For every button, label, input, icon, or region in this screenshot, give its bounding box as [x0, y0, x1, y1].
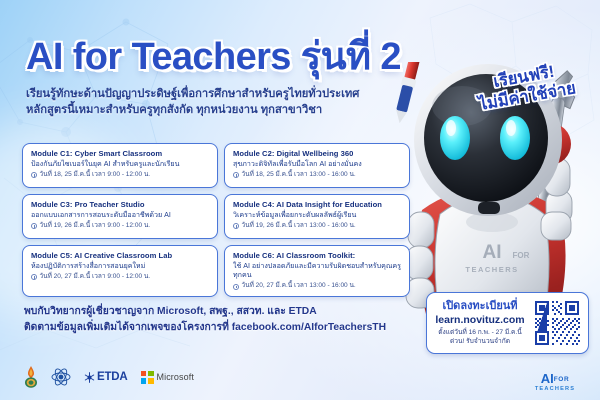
- ipst-emblem-icon: [51, 367, 71, 387]
- free-badge-line-2: ไม่มีค่าใช้จ่าย: [452, 74, 600, 120]
- registration-box[interactable]: เปิดลงทะเบียนที่ learn.novituz.com ตั้งแ…: [426, 292, 589, 354]
- module-schedule: วันที่ 19, 26 มี.ค.นี้ เวลา 9:00 - 12:00…: [31, 222, 210, 230]
- module-schedule-text: วันที่ 20, 27 มี.ค.นี้ เวลา 13:00 - 16:0…: [242, 282, 356, 290]
- brand-mark-line-1: AIFOR: [524, 372, 586, 385]
- clock-icon: [31, 223, 37, 229]
- module-description: ออกแบบเอกสารการสอนระดับมืออาชีพด้วย AI: [31, 211, 210, 220]
- qr-code-icon[interactable]: [532, 298, 582, 348]
- registration-limit-note: ด่วน! รับจำนวนจำกัด: [433, 338, 527, 347]
- ai-for-teachers-brand-mark: AIFOR TEACHERS: [524, 372, 586, 392]
- svg-text:TEACHERS: TEACHERS: [465, 265, 518, 274]
- registration-text: เปิดลงทะเบียนที่ learn.novituz.com ตั้งแ…: [433, 300, 527, 346]
- brand-mark-ai: AI: [541, 371, 554, 386]
- brand-mark-for: FOR: [554, 376, 570, 383]
- registration-url[interactable]: learn.novituz.com: [433, 314, 527, 327]
- module-card[interactable]: Module C2: Digital Wellbeing 360 สุขภาวะ…: [224, 143, 410, 188]
- module-card[interactable]: Module C3: Pro Teacher Studio ออกแบบเอกส…: [22, 194, 218, 239]
- module-schedule: วันที่ 18, 25 มี.ค.นี้ เวลา 9:00 - 12:00…: [31, 171, 210, 179]
- etda-mark-icon: [84, 372, 95, 383]
- clock-icon: [233, 172, 239, 178]
- module-title: Module C2: Digital Wellbeing 360: [233, 149, 402, 158]
- page-title: AI for Teachers รุ่นที่ 2: [26, 38, 456, 76]
- module-schedule: วันที่ 18, 25 มี.ค.นี้ เวลา 13:00 - 16:0…: [233, 171, 402, 179]
- etda-logo-text: ETDA: [97, 371, 128, 383]
- bottom-info-block: พบกับวิทยากรผู้เชี่ยวชาญจาก Microsoft, ส…: [24, 304, 386, 336]
- module-description: ใช้ AI อย่างปลอดภัยและมีความรับผิดชอบสำห…: [233, 262, 402, 280]
- module-title: Module C3: Pro Teacher Studio: [31, 200, 210, 209]
- module-card[interactable]: Module C1: Cyber Smart Classroom ป้องกัน…: [22, 143, 218, 188]
- module-schedule-text: วันที่ 18, 25 มี.ค.นี้ เวลา 9:00 - 12:00…: [40, 171, 151, 179]
- registration-heading: เปิดลงทะเบียนที่: [433, 300, 527, 313]
- title-block: AI for Teachers รุ่นที่ 2 เรียนรู้ทักษะด…: [26, 38, 456, 119]
- partner-logo-bar: ETDA Microsoft: [24, 366, 194, 388]
- svg-text:AI: AI: [483, 242, 502, 263]
- module-card[interactable]: Module C6: AI Classroom Toolkit: ใช้ AI …: [224, 245, 410, 297]
- module-description: ป้องกันภัยไซเบอร์ในยุค AI สำหรับครูและนั…: [31, 160, 210, 169]
- subtitle-line-1: เรียนรู้ทักษะด้านปัญญาประดิษฐ์เพื่อการศึ…: [26, 87, 456, 103]
- module-description: สุขภาวะดิจิทัลเพื่อรับมือโลก AI อย่างมั่…: [233, 160, 402, 169]
- microsoft-squares-icon: [141, 371, 154, 384]
- clock-icon: [31, 274, 37, 280]
- clock-icon: [31, 172, 37, 178]
- subtitle-line-2: หลักสูตรนี้เหมาะสำหรับครูทุกสังกัด ทุกหน…: [26, 103, 456, 119]
- module-card[interactable]: Module C5: AI Creative Classroom Lab ห้อ…: [22, 245, 218, 297]
- module-title: Module C5: AI Creative Classroom Lab: [31, 251, 210, 260]
- module-title: Module C1: Cyber Smart Classroom: [31, 149, 210, 158]
- module-card-grid: Module C1: Cyber Smart Classroom ป้องกัน…: [22, 143, 410, 297]
- module-schedule: วันที่ 20, 27 มี.ค.นี้ เวลา 9:00 - 12:00…: [31, 273, 210, 281]
- module-schedule: วันที่ 20, 27 มี.ค.นี้ เวลา 13:00 - 16:0…: [233, 282, 402, 290]
- module-schedule-text: วันที่ 19, 26 มี.ค.นี้ เวลา 9:00 - 12:00…: [40, 222, 151, 230]
- facebook-line[interactable]: ติดตามข้อมูลเพิ่มเติมได้จากเพจของโครงการ…: [24, 320, 386, 336]
- module-schedule-text: วันที่ 18, 25 มี.ค.นี้ เวลา 13:00 - 16:0…: [242, 171, 356, 179]
- module-schedule: วันที่ 19, 26 มี.ค.นี้ เวลา 13:00 - 16:0…: [233, 222, 402, 230]
- registration-period: ตั้งแต่วันที่ 16 ก.พ. - 27 มี.ค.นี้: [433, 329, 527, 338]
- garuda-emblem-icon: [24, 366, 38, 388]
- svg-text:FOR: FOR: [513, 251, 530, 260]
- clock-icon: [233, 223, 239, 229]
- poster-canvas: AI FOR TEACHERS AI for Teach: [0, 0, 600, 400]
- free-course-badge: เรียนฟรี! ไม่มีค่าใช้จ่าย: [448, 54, 600, 120]
- free-badge-line-1: เรียนฟรี!: [448, 54, 599, 100]
- etda-logo: ETDA: [84, 371, 128, 383]
- brand-mark-line-2: TEACHERS: [524, 386, 586, 392]
- microsoft-logo-text: Microsoft: [157, 372, 194, 382]
- clock-icon: [233, 284, 239, 290]
- speakers-line: พบกับวิทยากรผู้เชี่ยวชาญจาก Microsoft, ส…: [24, 304, 386, 320]
- module-schedule-text: วันที่ 19, 26 มี.ค.นี้ เวลา 13:00 - 16:0…: [242, 222, 356, 230]
- module-card[interactable]: Module C4: AI Data Insight for Education…: [224, 194, 410, 239]
- module-description: วิเคราะห์ข้อมูลเพื่อยกระดับผลลัพธ์ผู้เรี…: [233, 211, 402, 220]
- module-schedule-text: วันที่ 20, 27 มี.ค.นี้ เวลา 9:00 - 12:00…: [40, 273, 151, 281]
- module-title: Module C4: AI Data Insight for Education: [233, 200, 402, 209]
- microsoft-logo: Microsoft: [141, 371, 194, 384]
- module-description: ห้องปฏิบัติการสร้างสื่อการสอนยุคใหม่: [31, 262, 210, 271]
- module-title: Module C6: AI Classroom Toolkit:: [233, 251, 402, 260]
